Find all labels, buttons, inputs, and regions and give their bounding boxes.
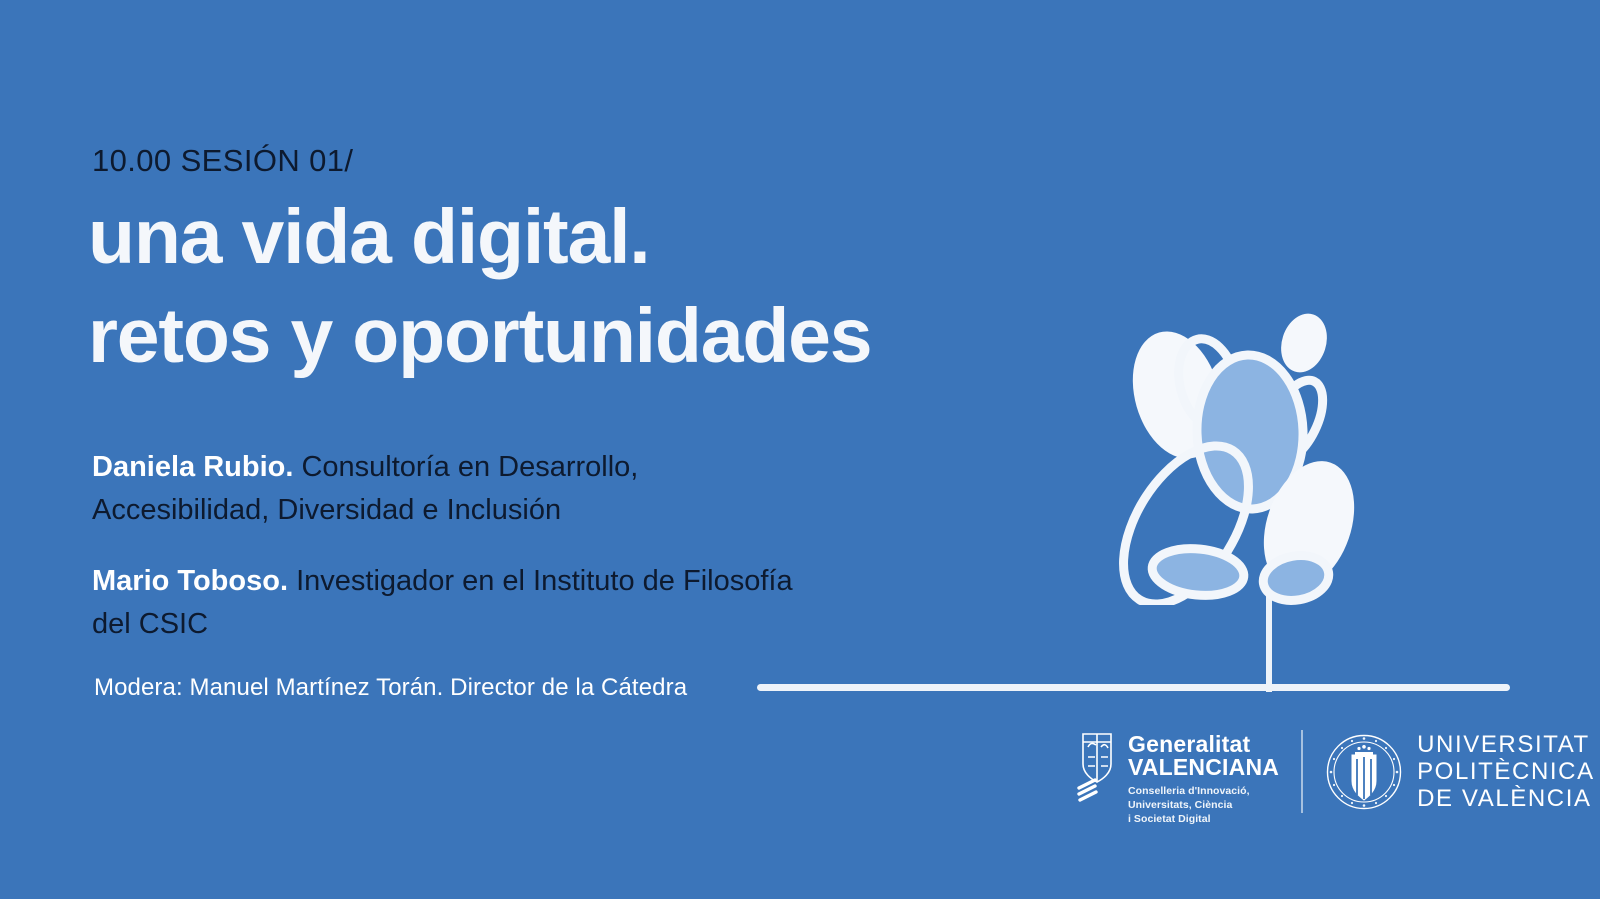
flower-petals-icon	[1095, 295, 1395, 605]
generalitat-shield-icon	[1075, 730, 1119, 802]
upv-line-2: POLITÈCNICA	[1417, 759, 1595, 786]
page-title: una vida digital. retos y oportunidades	[88, 188, 1088, 385]
upv-seal-icon	[1325, 733, 1403, 811]
moderator-line: Modera: Manuel Martínez Torán. Director …	[94, 674, 687, 702]
generalitat-line-2: VALENCIANA	[1128, 756, 1279, 779]
upv-line-3: DE VALÈNCIA	[1417, 786, 1595, 813]
generalitat-sub-1: Conselleria d'Innovació,	[1128, 785, 1279, 799]
presentation-slide: 10.00 SESIÓN 01/ una vida digital. retos…	[0, 0, 1600, 899]
page-title-line-2: retos y oportunidades	[88, 287, 1088, 386]
logo-strip: Generalitat VALENCIANA Conselleria d'Inn…	[1075, 730, 1595, 827]
generalitat-sub-2: Universitats, Ciència	[1128, 799, 1279, 813]
upv-wordmark: UNIVERSITAT POLITÈCNICA DE VALÈNCIA	[1417, 732, 1595, 813]
speaker-item: Daniela Rubio. Consultoría en Desarrollo…	[92, 446, 812, 532]
universitat-politecnica-valencia-logo: UNIVERSITAT POLITÈCNICA DE VALÈNCIA	[1301, 730, 1595, 813]
page-title-line-1: una vida digital.	[88, 188, 1088, 287]
flower-graphic	[1095, 295, 1395, 605]
speaker-list: Daniela Rubio. Consultoría en Desarrollo…	[92, 446, 812, 646]
generalitat-wordmark: Generalitat VALENCIANA Conselleria d'Inn…	[1128, 730, 1279, 827]
generalitat-line-1: Generalitat	[1128, 733, 1279, 756]
upv-line-1: UNIVERSITAT	[1417, 732, 1595, 759]
generalitat-valenciana-logo: Generalitat VALENCIANA Conselleria d'Inn…	[1075, 730, 1279, 827]
generalitat-sub-3: i Societat Digital	[1128, 813, 1279, 827]
speaker-item: Mario Toboso. Investigador en el Institu…	[92, 560, 812, 646]
session-eyebrow: 10.00 SESIÓN 01/	[92, 143, 353, 179]
horizontal-rule	[757, 684, 1510, 691]
speaker-name: Mario Toboso.	[92, 565, 288, 597]
speaker-name: Daniela Rubio.	[92, 451, 293, 483]
